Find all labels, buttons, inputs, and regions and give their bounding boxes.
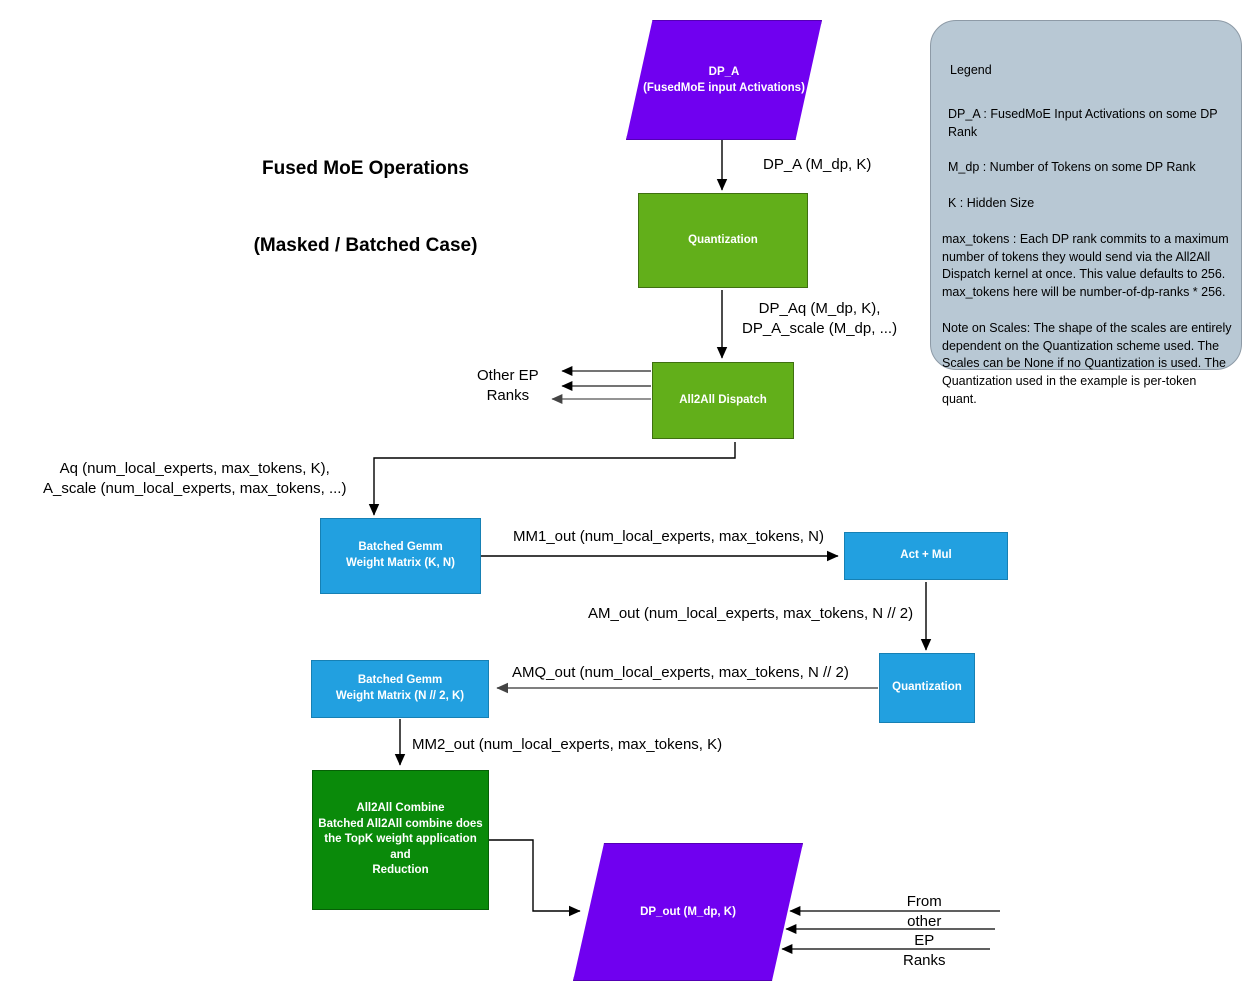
node-dp-a-line1: DP_A <box>643 64 805 80</box>
legend-entry-k: K : Hidden Size <box>948 195 1234 213</box>
legend-content: Legend DP_A : FusedMoE Input Activations… <box>942 62 1234 427</box>
legend-title: Legend <box>950 62 1234 80</box>
node-batched-gemm-2-line1: Batched Gemm <box>336 673 464 689</box>
node-all2all-combine-text: All2All Combine Batched All2All combine … <box>313 801 488 879</box>
node-batched-gemm-1-text: Batched Gemm Weight Matrix (K, N) <box>346 540 455 571</box>
node-dp-out[interactable]: DP_out (M_dp, K) <box>573 843 803 981</box>
edge-combine-to-dpout <box>489 840 580 911</box>
node-dp-a-text: DP_A (FusedMoE input Activations) <box>643 64 805 96</box>
edge-label-amq-out: AMQ_out (num_local_experts, max_tokens, … <box>512 663 849 683</box>
node-all2all-dispatch-label: All2All Dispatch <box>679 393 767 409</box>
edge-label-other-ep-ranks: Other EP Ranks <box>477 366 539 405</box>
edge-label-dp-aq: DP_Aq (M_dp, K), DP_A_scale (M_dp, ...) <box>742 299 897 338</box>
node-all2all-combine[interactable]: All2All Combine Batched All2All combine … <box>312 770 489 910</box>
edge-label-mm2-out: MM2_out (num_local_experts, max_tokens, … <box>412 735 722 755</box>
edge-label-mm1-out: MM1_out (num_local_experts, max_tokens, … <box>513 527 824 547</box>
legend-paragraph-max-tokens: max_tokens : Each DP rank commits to a m… <box>942 231 1234 302</box>
node-dp-a-line2: (FusedMoE input Activations) <box>643 80 805 96</box>
edge-dispatch-to-gemm1 <box>374 442 735 515</box>
node-act-mul-label: Act + Mul <box>900 548 951 564</box>
node-quantization-2-label: Quantization <box>892 680 962 696</box>
node-batched-gemm-2-text: Batched Gemm Weight Matrix (N // 2, K) <box>336 673 464 704</box>
legend-entry-m-dp: M_dp : Number of Tokens on some DP Rank <box>948 159 1234 177</box>
edge-label-from-other-ep-ranks: From other EP Ranks <box>903 892 946 970</box>
diagram-title-line2: (Masked / Batched Case) <box>228 233 503 259</box>
node-batched-gemm-1-line1: Batched Gemm <box>346 540 455 556</box>
diagram-title-line1: Fused MoE Operations <box>228 156 503 182</box>
node-batched-gemm-2-line2: Weight Matrix (N // 2, K) <box>336 689 464 705</box>
node-dp-out-label: DP_out (M_dp, K) <box>640 904 736 920</box>
node-batched-gemm-1[interactable]: Batched Gemm Weight Matrix (K, N) <box>320 518 481 594</box>
node-quantization-2[interactable]: Quantization <box>879 653 975 723</box>
node-all2all-combine-line3: the TopK weight application and <box>313 832 488 863</box>
node-quantization-1-label: Quantization <box>688 233 758 249</box>
edge-label-dp-a-out: DP_A (M_dp, K) <box>763 155 871 175</box>
legend-paragraph-scales: Note on Scales: The shape of the scales … <box>942 320 1234 409</box>
node-all2all-combine-line2: Batched All2All combine does <box>313 817 488 833</box>
node-quantization-1[interactable]: Quantization <box>638 193 808 288</box>
node-all2all-combine-line1: All2All Combine <box>313 801 488 817</box>
node-dp-a[interactable]: DP_A (FusedMoE input Activations) <box>626 20 822 140</box>
edge-label-am-out: AM_out (num_local_experts, max_tokens, N… <box>588 604 913 624</box>
edge-label-aq-scale: Aq (num_local_experts, max_tokens, K), A… <box>43 459 346 498</box>
node-act-mul[interactable]: Act + Mul <box>844 532 1008 580</box>
node-batched-gemm-1-line2: Weight Matrix (K, N) <box>346 556 455 572</box>
diagram-title: Fused MoE Operations (Masked / Batched C… <box>228 105 503 310</box>
diagram-canvas: Fused MoE Operations (Masked / Batched C… <box>0 0 1260 1001</box>
node-batched-gemm-2[interactable]: Batched Gemm Weight Matrix (N // 2, K) <box>311 660 489 718</box>
node-all2all-combine-line4: Reduction <box>313 863 488 879</box>
node-all2all-dispatch[interactable]: All2All Dispatch <box>652 362 794 439</box>
legend-entry-dp-a: DP_A : FusedMoE Input Activations on som… <box>948 106 1234 142</box>
